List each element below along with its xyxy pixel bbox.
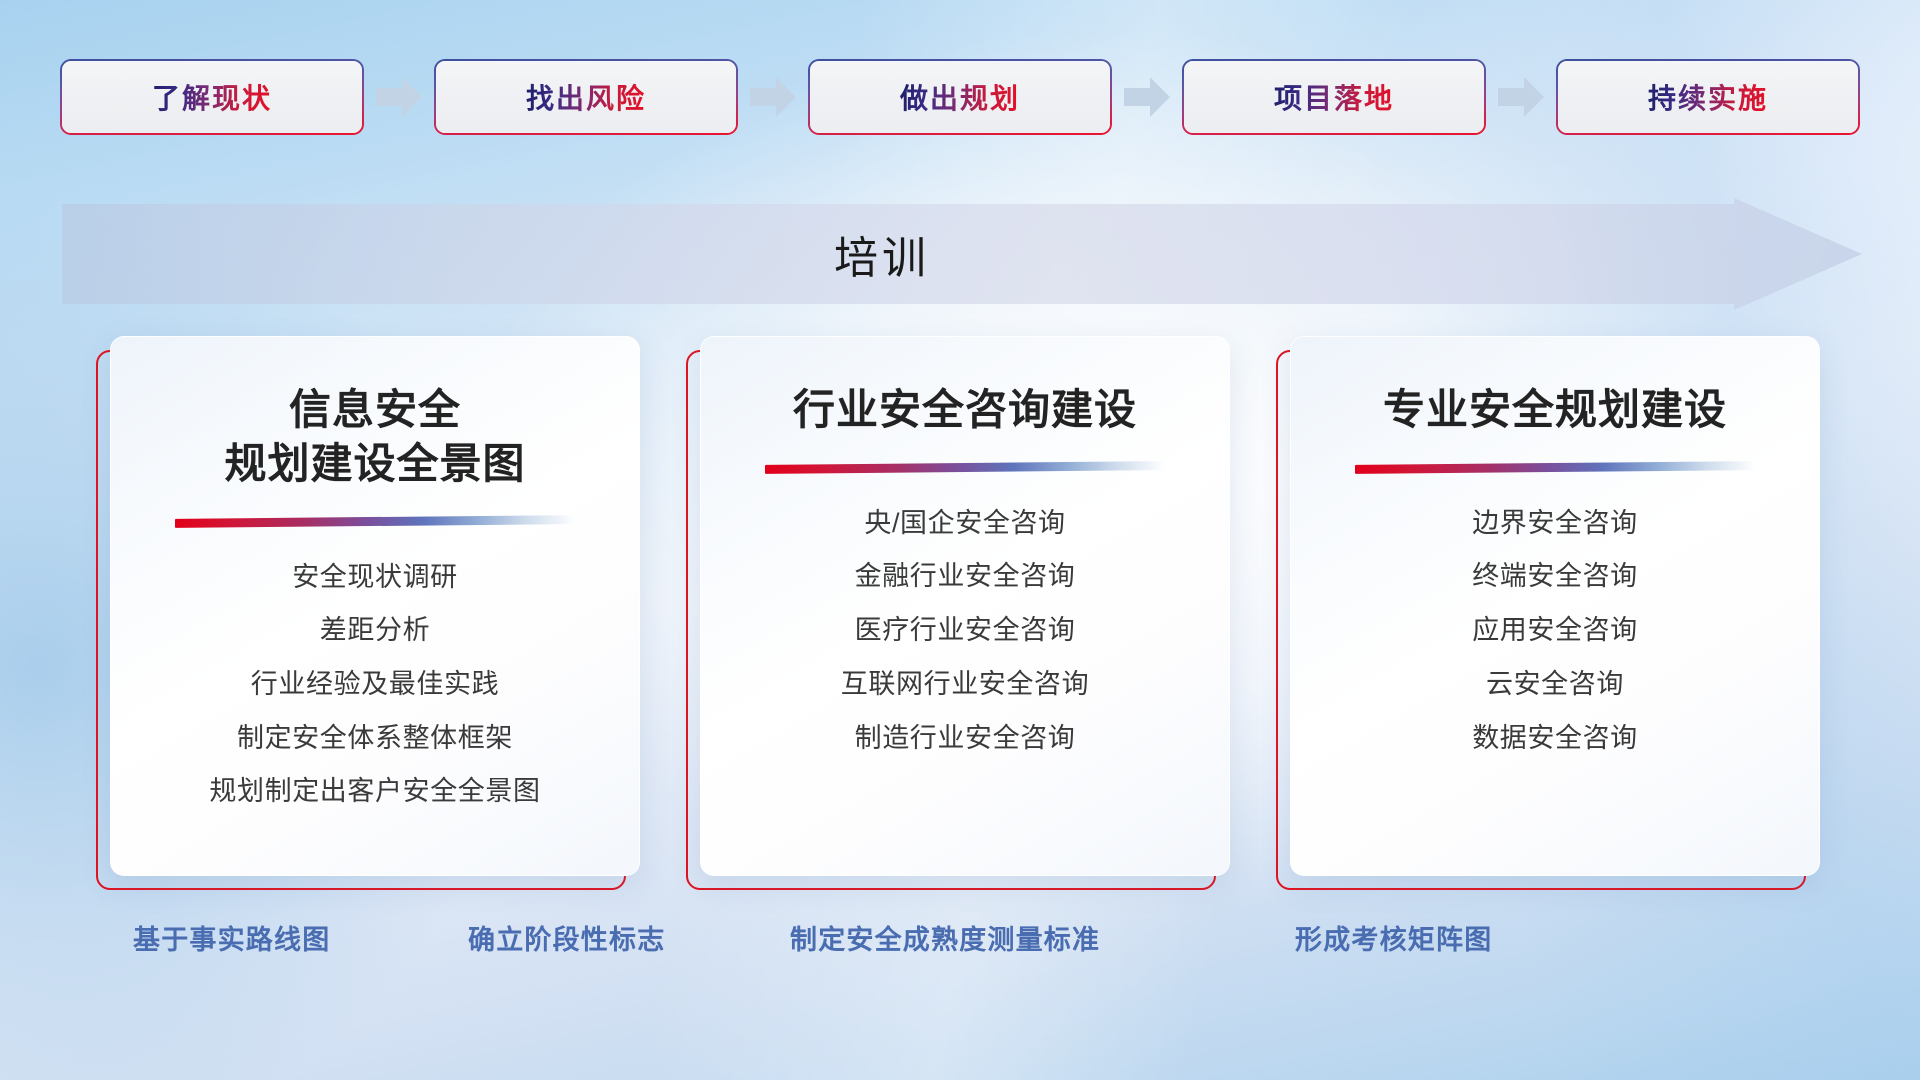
- card-1[interactable]: 信息安全 规划建设全景图 安全现状调研 差距分析 行业经验及最佳实践 制定安全体…: [110, 336, 640, 876]
- list-item: 制造行业安全咨询: [855, 717, 1076, 761]
- process-step-2[interactable]: 找出风险: [436, 61, 736, 133]
- list-item: 应用安全咨询: [1472, 609, 1638, 653]
- arrow-right-icon: [748, 73, 798, 121]
- banner-title: 培训: [62, 198, 1702, 310]
- bottom-label-4: 形成考核矩阵图: [1295, 918, 1492, 957]
- list-item: 边界安全咨询: [1472, 502, 1638, 546]
- card-divider: [1355, 461, 1755, 474]
- process-step-label: 做出规划: [900, 77, 1020, 117]
- arrow-right-icon: [1122, 73, 1172, 121]
- list-item: 规划制定出客户安全全景图: [209, 770, 540, 814]
- process-step-3[interactable]: 做出规划: [810, 61, 1110, 133]
- list-item: 行业经验及最佳实践: [251, 663, 499, 707]
- card-3[interactable]: 专业安全规划建设 边界安全咨询 终端安全咨询 应用安全咨询 云安全咨询 数据安全…: [1290, 336, 1820, 876]
- card-divider: [175, 515, 575, 528]
- training-banner: 培训: [62, 198, 1862, 310]
- process-step-label: 项目落地: [1274, 77, 1394, 117]
- card-list: 央/国企安全咨询 金融行业安全咨询 医疗行业安全咨询 互联网行业安全咨询 制造行…: [841, 502, 1089, 761]
- process-step-1[interactable]: 了解现状: [62, 61, 362, 133]
- card-list: 安全现状调研 差距分析 行业经验及最佳实践 制定安全体系整体框架 规划制定出客户…: [209, 556, 540, 815]
- card-body: 专业安全规划建设 边界安全咨询 终端安全咨询 应用安全咨询 云安全咨询 数据安全…: [1290, 336, 1820, 876]
- list-item: 数据安全咨询: [1472, 717, 1638, 761]
- bottom-label-3: 制定安全成熟度测量标准: [790, 918, 1100, 957]
- card-list: 边界安全咨询 终端安全咨询 应用安全咨询 云安全咨询 数据安全咨询: [1472, 502, 1638, 761]
- card-divider: [765, 461, 1165, 474]
- list-item: 金融行业安全咨询: [855, 555, 1076, 599]
- process-step-4[interactable]: 项目落地: [1184, 61, 1484, 133]
- process-step-label: 持续实施: [1648, 77, 1768, 117]
- card-body: 信息安全 规划建设全景图 安全现状调研 差距分析 行业经验及最佳实践 制定安全体…: [110, 336, 640, 876]
- arrow-right-icon: [374, 73, 424, 121]
- process-step-5[interactable]: 持续实施: [1558, 61, 1858, 133]
- card-title: 行业安全咨询建设: [793, 383, 1137, 437]
- list-item: 云安全咨询: [1486, 663, 1624, 707]
- bottom-label-1: 基于事实路线图: [133, 918, 330, 957]
- list-item: 医疗行业安全咨询: [855, 609, 1076, 653]
- process-step-label: 了解现状: [152, 77, 272, 117]
- card-title: 信息安全 规划建设全景图: [224, 383, 525, 491]
- process-step-label: 找出风险: [526, 77, 646, 117]
- list-item: 终端安全咨询: [1472, 555, 1638, 599]
- bottom-labels-row: 基于事实路线图 确立阶段性标志 制定安全成熟度测量标准 形成考核矩阵图: [0, 918, 1920, 970]
- list-item: 安全现状调研: [292, 556, 458, 600]
- card-2[interactable]: 行业安全咨询建设 央/国企安全咨询 金融行业安全咨询 医疗行业安全咨询 互联网行…: [700, 336, 1230, 876]
- card-title: 专业安全规划建设: [1383, 383, 1727, 437]
- list-item: 央/国企安全咨询: [864, 502, 1065, 546]
- slide-canvas: 培训 了解现状 找出风险 做出规划 项目落地 持续实施: [0, 0, 1920, 1080]
- card-body: 行业安全咨询建设 央/国企安全咨询 金融行业安全咨询 医疗行业安全咨询 互联网行…: [700, 336, 1230, 876]
- list-item: 差距分析: [320, 609, 430, 653]
- bottom-label-2: 确立阶段性标志: [468, 918, 665, 957]
- list-item: 互联网行业安全咨询: [841, 663, 1089, 707]
- arrow-right-icon: [1496, 73, 1546, 121]
- list-item: 制定安全体系整体框架: [237, 717, 513, 761]
- process-steps-row: 了解现状 找出风险 做出规划 项目落地 持续实施: [62, 58, 1862, 136]
- cards-row: 信息安全 规划建设全景图 安全现状调研 差距分析 行业经验及最佳实践 制定安全体…: [110, 336, 1820, 876]
